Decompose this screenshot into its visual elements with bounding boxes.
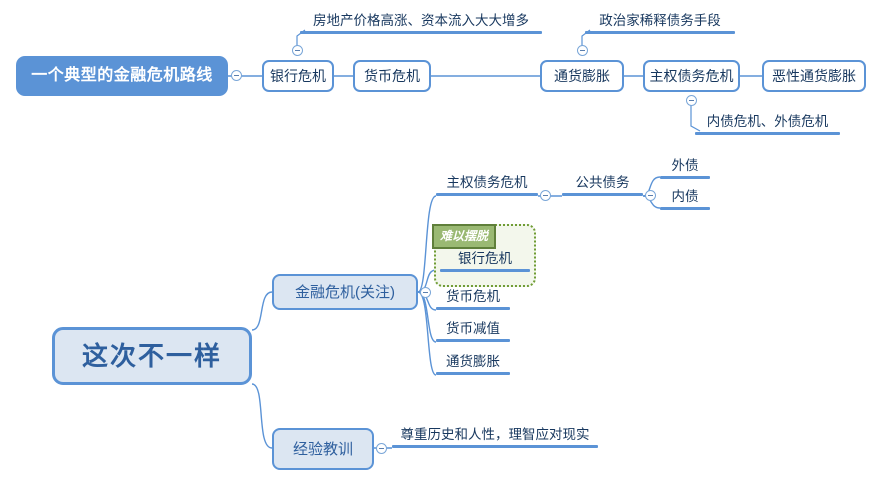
toggle-sovereign-debt-bottom[interactable] (540, 190, 551, 201)
toggle-lessons[interactable] (376, 443, 387, 454)
branch-financial-crisis[interactable]: 金融危机(关注) (272, 274, 418, 310)
leaf-public-debt-label: 公共债务 (562, 176, 643, 193)
node-hyperinflation-top[interactable]: 恶性通货膨胀 (762, 60, 866, 92)
leaf-public-debt[interactable]: 公共债务 (562, 176, 643, 196)
node-bank-crisis-top[interactable]: 银行危机 (262, 60, 334, 92)
leaf-inflation[interactable]: 通货膨胀 (436, 355, 510, 375)
leaf-external-debt[interactable]: 外债 (660, 159, 710, 179)
node-inflation-top[interactable]: 通货膨胀 (540, 60, 624, 92)
node-sovereign-debt-crisis-top[interactable]: 主权债务危机 (643, 60, 740, 92)
tag-hard-to-escape: 难以摆脱 (432, 224, 496, 249)
branch-lessons[interactable]: 经验教训 (272, 428, 374, 470)
leaf-inflation-bar (436, 372, 510, 375)
leaf-sovereign-debt-crisis-bar (436, 193, 538, 196)
leaf-bank-crisis[interactable]: 银行危机 (440, 252, 530, 272)
leaf-internal-debt-bar (660, 207, 710, 210)
toggle-top-root[interactable] (231, 70, 242, 81)
leaf-currency-devaluation-bar (436, 339, 510, 342)
annotation-politician-debt-bar (585, 31, 735, 34)
annotation-politician-debt-label: 政治家稀释债务手段 (585, 14, 735, 31)
annotation-politician-debt[interactable]: 政治家稀释债务手段 (585, 14, 735, 34)
leaf-bank-crisis-label: 银行危机 (440, 252, 530, 269)
leaf-internal-debt[interactable]: 内债 (660, 190, 710, 210)
leaf-currency-devaluation[interactable]: 货币减值 (436, 322, 510, 342)
leaf-sovereign-debt-crisis-label: 主权债务危机 (436, 176, 538, 193)
toggle-sovereign-debt-top[interactable] (686, 95, 697, 106)
leaf-public-debt-bar (562, 193, 643, 196)
leaf-inflation-label: 通货膨胀 (436, 355, 510, 372)
mindmap-canvas: 一个典型的金融危机路线 银行危机 货币危机 通货膨胀 主权债务危机 恶性通货膨胀… (0, 0, 881, 484)
node-currency-crisis-top[interactable]: 货币危机 (353, 60, 431, 92)
toggle-bank-crisis-top[interactable] (292, 45, 303, 56)
toggle-public-debt[interactable] (645, 190, 656, 201)
leaf-bank-crisis-bar (440, 269, 530, 272)
annotation-real-estate-bar (300, 31, 542, 34)
leaf-internal-debt-label: 内债 (660, 190, 710, 207)
leaf-external-debt-bar (660, 176, 710, 179)
annotation-internal-external-debt[interactable]: 内债危机、外债危机 (695, 115, 840, 135)
toggle-inflation-top[interactable] (577, 45, 588, 56)
annotation-internal-external-debt-label: 内债危机、外债危机 (695, 115, 840, 132)
leaf-currency-crisis[interactable]: 货币危机 (436, 290, 510, 310)
leaf-external-debt-label: 外债 (660, 159, 710, 176)
leaf-currency-devaluation-label: 货币减值 (436, 322, 510, 339)
leaf-currency-crisis-label: 货币危机 (436, 290, 510, 307)
annotation-real-estate[interactable]: 房地产价格高涨、资本流入大大增多 (300, 14, 542, 34)
annotation-real-estate-label: 房地产价格高涨、资本流入大大增多 (300, 14, 542, 31)
top-root-banner[interactable]: 一个典型的金融危机路线 (16, 56, 228, 96)
main-root-node[interactable]: 这次不一样 (52, 327, 252, 385)
leaf-currency-crisis-bar (436, 307, 510, 310)
annotation-internal-external-debt-bar (695, 132, 840, 135)
leaf-lesson-text-bar (392, 445, 598, 448)
toggle-financial-crisis[interactable] (420, 287, 431, 298)
leaf-lesson-text[interactable]: 尊重历史和人性，理智应对现实 (392, 428, 598, 448)
leaf-sovereign-debt-crisis[interactable]: 主权债务危机 (436, 176, 538, 196)
leaf-lesson-text-label: 尊重历史和人性，理智应对现实 (392, 428, 598, 445)
